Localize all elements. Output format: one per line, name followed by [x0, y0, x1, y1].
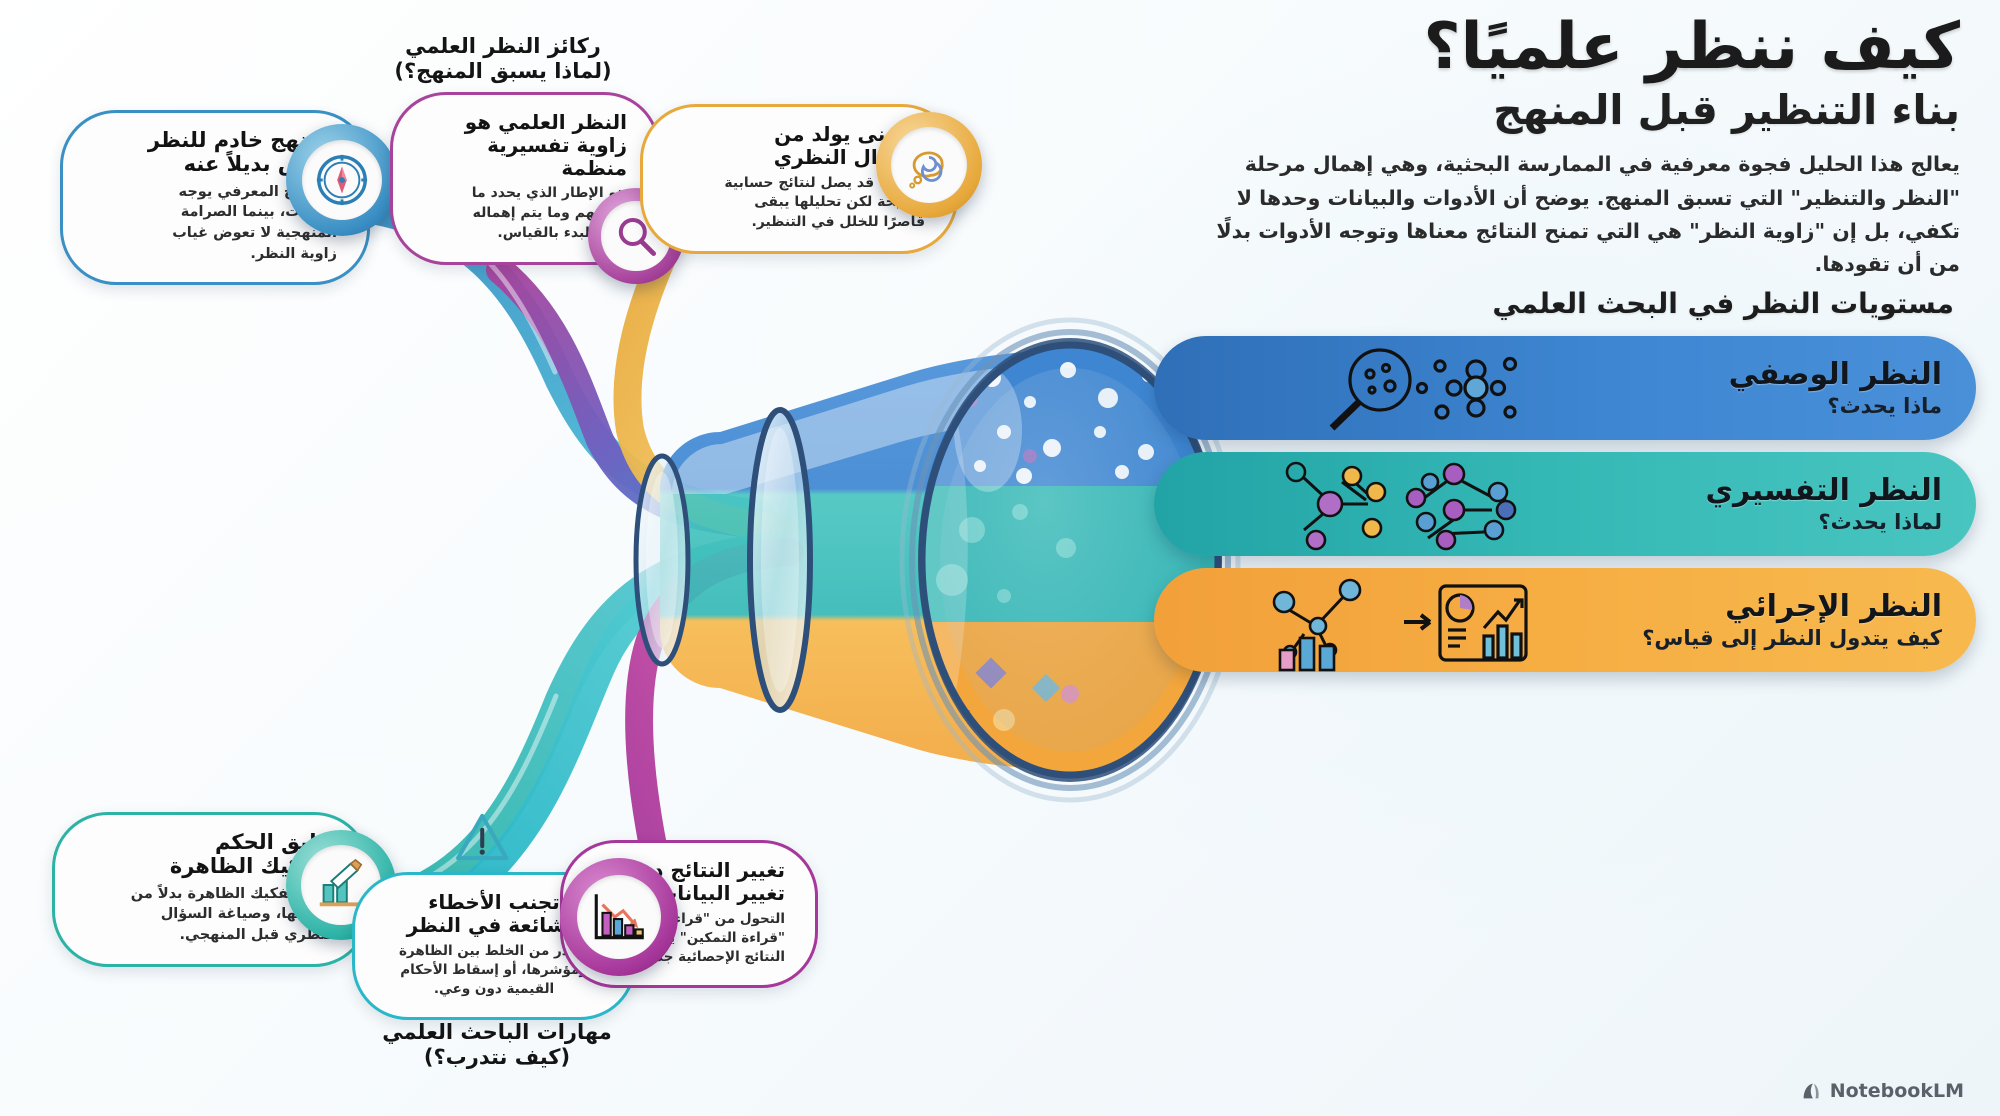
callout-icon-disc	[560, 858, 678, 976]
declining-bar-chart-icon	[588, 886, 650, 948]
compass-icon	[313, 151, 371, 209]
page-subtitle: بناء التنظير قبل المنهج	[1200, 87, 1960, 134]
notebooklm-logo-icon	[1800, 1080, 1822, 1102]
level-bar-text: النظر الإجرائي كيف يتدول النظر إلى قياس؟	[1642, 590, 1942, 650]
callout-icon-disc	[876, 112, 982, 218]
level-name: النظر الوصفي	[1729, 358, 1942, 391]
callout-method-servant[interactable]: المنهج خادم للنظر وليس بديلاً عنه الوضوح…	[60, 110, 370, 285]
level-bar-procedural[interactable]: النظر الإجرائي كيف يتدول النظر إلى قياس؟	[1154, 568, 1976, 672]
infographic-canvas: كيف ننظر علميًا؟ بناء التنظير قبل المنهج…	[0, 0, 2000, 1116]
thought-spiral-icon	[901, 137, 957, 193]
page-header: كيف ننظر علميًا؟ بناء التنظير قبل المنهج…	[1200, 14, 1960, 281]
callout-meaning-from-question[interactable]: المعنى يولد من السؤال النظري الباحث قد ي…	[640, 104, 958, 254]
section-label-top-line1: ركائز النظر العلمي	[378, 34, 628, 59]
level-bar-text: النظر الوصفي ماذا يحدث؟	[1729, 358, 1942, 418]
level-name: النظر الإجرائي	[1642, 590, 1942, 623]
section-label-bottom-line2: (كيف نتدرب؟)	[372, 1045, 622, 1070]
level-name: النظر التفسيري	[1706, 474, 1942, 507]
level-question: لماذا يحدث؟	[1706, 510, 1942, 534]
warning-triangle-icon	[452, 805, 512, 871]
page-title: كيف ننظر علميًا؟	[1200, 14, 1960, 81]
level-bar-explanatory[interactable]: النظر التفسيري لماذا يحدث؟	[1154, 452, 1976, 556]
callout-scientific-view[interactable]: النظر العلمي هو زاوية تفسيرية منظمة هو ا…	[390, 92, 660, 265]
page-description: يعالج هذا الحليل فجوة معرفية في الممارسة…	[1200, 148, 1960, 281]
levels-section-title: مستويات النظر في البحث العلمي	[1492, 287, 1954, 320]
callout-title: النظر العلمي هو زاوية تفسيرية منظمة	[457, 111, 627, 179]
footer-brand: NotebookLM	[1800, 1080, 1964, 1102]
callout-suspend-judgment[interactable]: تعليق الحكم وتفكيك الظاهرة البدء بتفكيك …	[52, 812, 370, 967]
level-bar-text: النظر التفسيري لماذا يحدث؟	[1706, 474, 1942, 534]
level-question: كيف يتدول النظر إلى قياس؟	[1642, 626, 1942, 650]
level-bar-descriptive[interactable]: النظر الوصفي ماذا يحدث؟	[1154, 336, 1976, 440]
callout-icon-disc	[440, 796, 524, 880]
section-label-top-line2: (لماذا يسبق المنهج؟)	[378, 59, 628, 84]
section-label-top: ركائز النظر العلمي (لماذا يسبق المنهج؟)	[378, 34, 628, 84]
section-label-bottom-line1: مهارات الباحث العلمي	[372, 1020, 622, 1045]
network-graph-icon	[1154, 452, 1584, 556]
callout-icon-disc	[286, 124, 398, 236]
microscope-dots-icon	[1154, 336, 1584, 440]
chart-report-icon	[1154, 568, 1584, 672]
footer-brand-label: NotebookLM	[1830, 1080, 1964, 1102]
section-label-bottom: مهارات الباحث العلمي (كيف نتدرب؟)	[372, 1020, 622, 1070]
callout-change-results[interactable]: تغيير النتائج دون تغيير البيانات التحول …	[560, 840, 900, 988]
level-question: ماذا يحدث؟	[1729, 394, 1942, 418]
